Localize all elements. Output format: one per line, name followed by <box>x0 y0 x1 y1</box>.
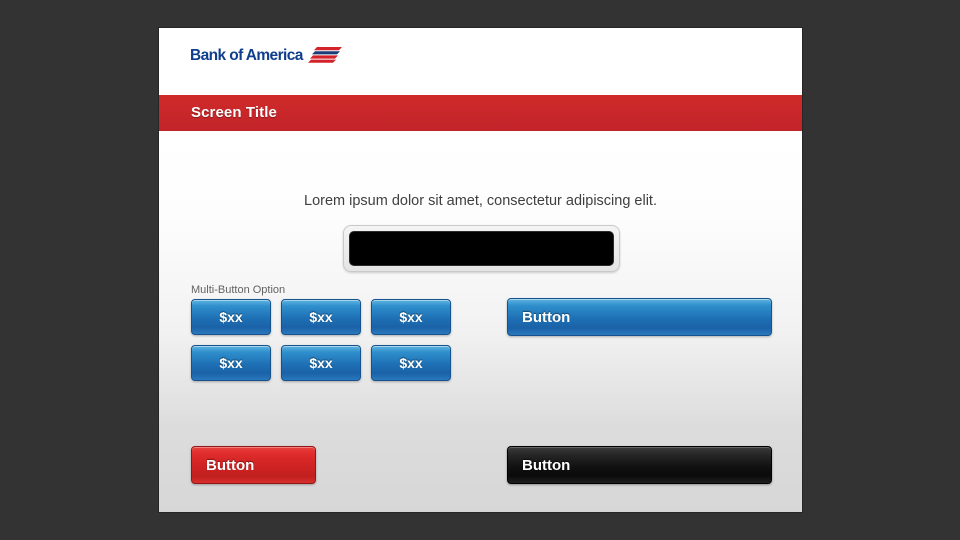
page-title: Screen Title <box>191 104 277 121</box>
bank-of-america-logo: Bank of America <box>190 46 342 65</box>
primary-action-button[interactable]: Button <box>507 298 772 336</box>
multi-button-option-label: Multi-Button Option <box>191 284 285 296</box>
atm-screen-panel: Bank of America Screen Title Lorem ipsum… <box>159 28 802 512</box>
entry-field-frame <box>343 225 620 272</box>
instruction-text: Lorem ipsum dolor sit amet, consectetur … <box>159 193 802 209</box>
screen-body: Lorem ipsum dolor sit amet, consectetur … <box>159 131 802 512</box>
cancel-button[interactable]: Button <box>191 446 316 484</box>
screen-canvas: Bank of America Screen Title Lorem ipsum… <box>0 0 960 540</box>
amount-button-3[interactable]: $xx <box>371 299 451 335</box>
entry-input[interactable] <box>349 231 614 266</box>
amount-button-2[interactable]: $xx <box>281 299 361 335</box>
amount-button-6[interactable]: $xx <box>371 345 451 381</box>
amount-button-5[interactable]: $xx <box>281 345 361 381</box>
amount-button-1[interactable]: $xx <box>191 299 271 335</box>
secondary-action-button[interactable]: Button <box>507 446 772 484</box>
bank-of-america-flag-icon <box>308 46 342 65</box>
screen-title-bar: Screen Title <box>159 95 802 131</box>
logo-header: Bank of America <box>159 28 802 95</box>
amount-button-4[interactable]: $xx <box>191 345 271 381</box>
multi-button-option-grid: $xx $xx $xx $xx $xx $xx <box>191 299 451 381</box>
logo-wordmark: Bank of America <box>190 48 303 64</box>
